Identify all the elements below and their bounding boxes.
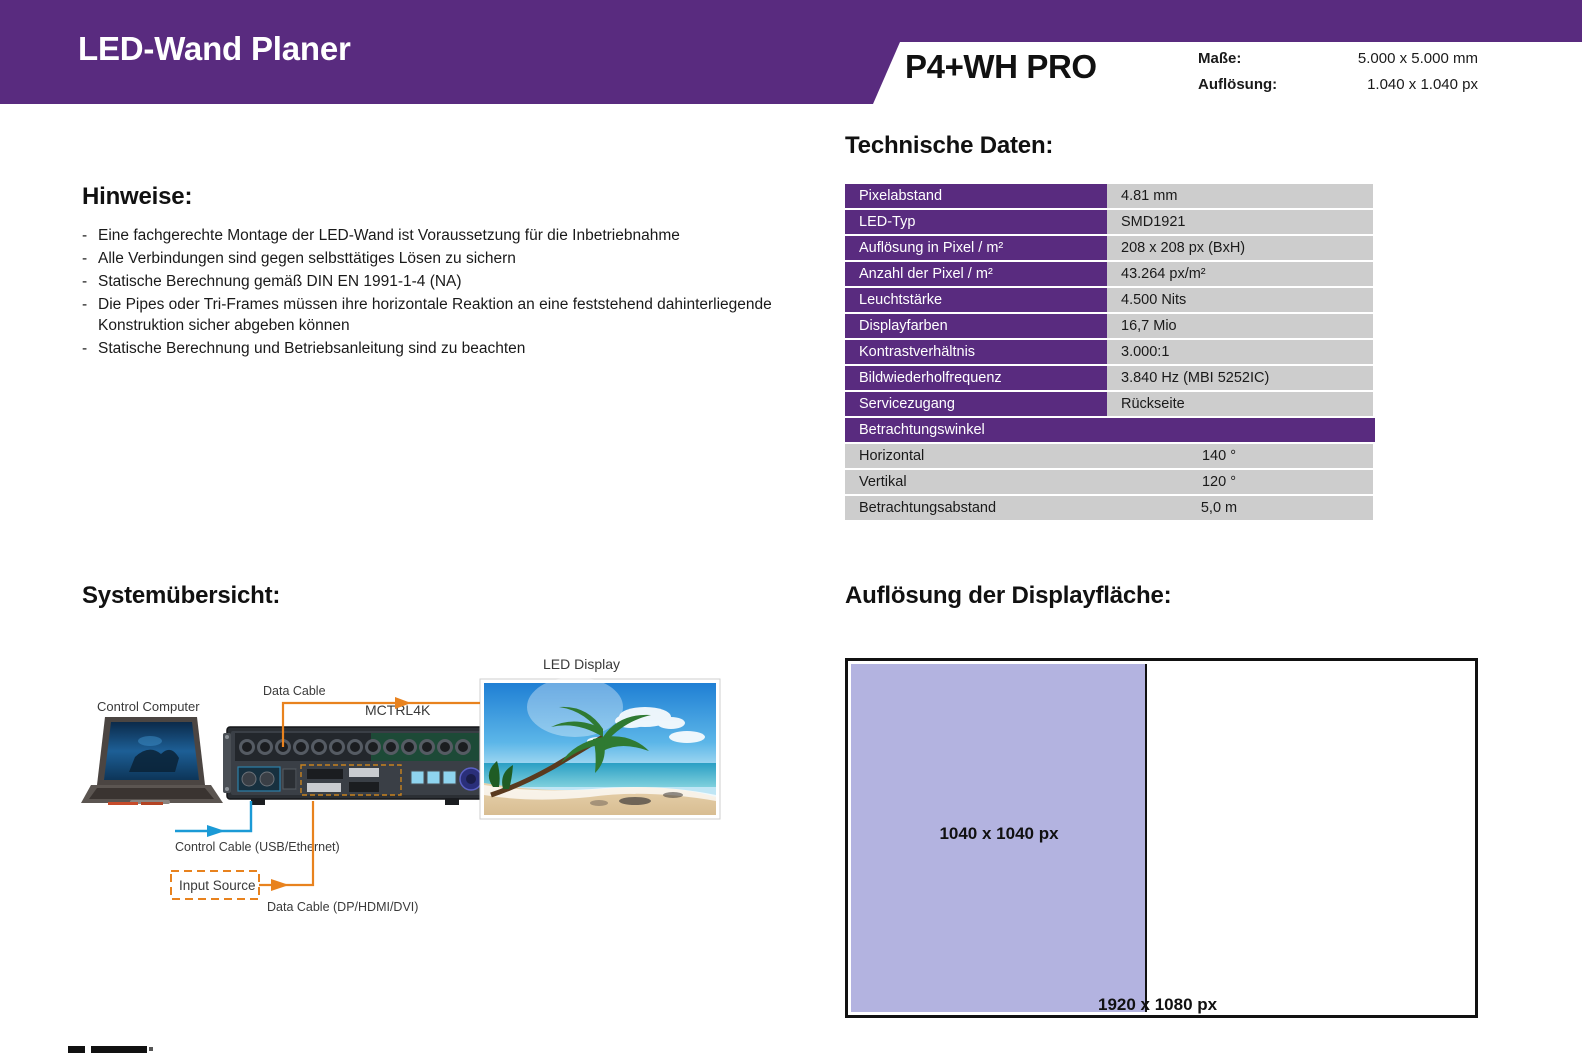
note-item: - Die Pipes oder Tri-Frames müssen ihre … — [82, 294, 782, 336]
table-row: Pixelabstand 4.81 mm — [845, 184, 1375, 208]
table-row: Vertikal 120 ° — [845, 470, 1375, 494]
table-cell-value: 43.264 px/m² — [1107, 262, 1373, 286]
led-display-label: LED Display — [543, 656, 620, 672]
table-cell-value: 4.81 mm — [1107, 184, 1373, 208]
note-bullet: - — [82, 271, 98, 292]
display-area-rect: 1040 x 1040 px — [851, 664, 1147, 1012]
data-cable-bottom-arrow — [271, 879, 289, 891]
note-bullet: - — [82, 248, 98, 269]
spec-value-aufloesung: 1.040 x 1.040 px — [1308, 72, 1478, 98]
system-overview-heading: Systemübersicht: — [82, 582, 782, 610]
product-name: P4+WH PRO — [905, 48, 1097, 86]
logo-mark-right — [91, 1046, 147, 1053]
control-cable-arrow — [207, 825, 225, 837]
laptop-icon — [81, 717, 223, 805]
table-cell-value: 3.000:1 — [1107, 340, 1373, 364]
tech-data-table: Pixelabstand 4.81 mm LED-Typ SMD1921 Auf… — [845, 184, 1375, 520]
tech-data-heading: Technische Daten: — [845, 132, 1375, 160]
table-cell-key: Pixelabstand — [845, 184, 1107, 208]
header-spec-list: Maße: 5.000 x 5.000 mm Auflösung: 1.040 … — [1198, 46, 1478, 98]
table-cell-value: 16,7 Mio — [1107, 314, 1373, 338]
note-bullet: - — [82, 338, 98, 359]
table-cell-value: 120 ° — [1107, 470, 1373, 494]
table-cell-value: Rückseite — [1107, 392, 1373, 416]
logo-registered-mark — [149, 1047, 153, 1051]
table-row: LED-Typ SMD1921 — [845, 210, 1375, 234]
input-source-label: Input Source — [179, 878, 256, 893]
note-text: Statische Berechnung gemäß DIN EN 1991-1… — [98, 271, 782, 292]
note-item: - Statische Berechnung und Betriebsanlei… — [82, 338, 782, 359]
note-text: Statische Berechnung und Betriebsanleitu… — [98, 338, 782, 359]
table-row: Betrachtungsabstand 5,0 m — [845, 496, 1375, 520]
table-cell-value: 208 x 208 px (BxH) — [1107, 236, 1373, 260]
table-group-header-row: Betrachtungswinkel — [845, 418, 1375, 442]
table-row: Auflösung in Pixel / m² 208 x 208 px (Bx… — [845, 236, 1375, 260]
table-cell-key: Vertikal — [845, 470, 1107, 494]
table-cell-key: Anzahl der Pixel / m² — [845, 262, 1107, 286]
note-bullet: - — [82, 225, 98, 246]
table-cell-key: Kontrastverhältnis — [845, 340, 1107, 364]
logo-mark-left — [68, 1046, 85, 1053]
table-cell-key: LED-Typ — [845, 210, 1107, 234]
notes-heading: Hinweise: — [82, 183, 782, 211]
table-cell-key: Horizontal — [845, 444, 1107, 468]
table-cell-key: Bildwiederholfrequenz — [845, 366, 1107, 390]
table-cell-key: Displayfarben — [845, 314, 1107, 338]
table-row: Leuchtstärke 4.500 Nits — [845, 288, 1375, 312]
note-bullet: - — [82, 294, 98, 336]
resolution-diagram: 1040 x 1040 px 1920 x 1080 px — [845, 658, 1478, 1018]
control-cable-line — [175, 801, 251, 831]
page-title: LED-Wand Planer — [78, 30, 351, 68]
system-overview-diagram: Control Computer MCTRL4K — [75, 645, 735, 965]
data-cable-top-label: Data Cable — [263, 684, 326, 698]
table-cell-value: 5,0 m — [1107, 496, 1373, 520]
table-cell-value: 140 ° — [1107, 444, 1373, 468]
page-header: LED-Wand Planer P4+WH PRO Maße: 5.000 x … — [0, 0, 1582, 104]
note-text: Alle Verbindungen sind gegen selbsttätig… — [98, 248, 782, 269]
header-purple-strip — [870, 0, 1582, 42]
spec-value-masse: 5.000 x 5.000 mm — [1308, 46, 1478, 72]
tech-data-section: Technische Daten: Pixelabstand 4.81 mm L… — [845, 132, 1375, 522]
control-cable-label: Control Cable (USB/Ethernet) — [175, 840, 340, 854]
display-area-label: 1040 x 1040 px — [851, 824, 1147, 844]
table-cell-key: Betrachtungsabstand — [845, 496, 1107, 520]
spec-row-masse: Maße: 5.000 x 5.000 mm — [1198, 46, 1478, 72]
note-item: - Alle Verbindungen sind gegen selbsttät… — [82, 248, 782, 269]
note-text: Die Pipes oder Tri-Frames müssen ihre ho… — [98, 294, 782, 336]
note-text: Eine fachgerechte Montage der LED-Wand i… — [98, 225, 782, 246]
table-group-header: Betrachtungswinkel — [845, 418, 1375, 442]
table-cell-value: 4.500 Nits — [1107, 288, 1373, 312]
note-item: - Eine fachgerechte Montage der LED-Wand… — [82, 225, 782, 246]
table-cell-key: Auflösung in Pixel / m² — [845, 236, 1107, 260]
table-row: Horizontal 140 ° — [845, 444, 1375, 468]
note-item: - Statische Berechnung gemäß DIN EN 1991… — [82, 271, 782, 292]
table-row: Kontrastverhältnis 3.000:1 — [845, 340, 1375, 364]
resolution-section: Auflösung der Displayfläche: — [845, 582, 1485, 624]
table-cell-value: SMD1921 — [1107, 210, 1373, 234]
table-row: Anzahl der Pixel / m² 43.264 px/m² — [845, 262, 1375, 286]
control-computer-label: Control Computer — [97, 699, 200, 714]
system-overview-section: Systemübersicht: — [82, 582, 782, 624]
table-row: Servicezugang Rückseite — [845, 392, 1375, 416]
notes-section: Hinweise: - Eine fachgerechte Montage de… — [82, 183, 782, 361]
resolution-heading: Auflösung der Displayfläche: — [845, 582, 1485, 610]
table-row: Displayfarben 16,7 Mio — [845, 314, 1375, 338]
spec-label-aufloesung: Auflösung: — [1198, 72, 1308, 98]
mctrl4k-device — [223, 727, 491, 805]
led-display-image — [480, 677, 720, 819]
table-row: Bildwiederholfrequenz 3.840 Hz (MBI 5252… — [845, 366, 1375, 390]
table-cell-key: Leuchtstärke — [845, 288, 1107, 312]
table-cell-value: 3.840 Hz (MBI 5252IC) — [1107, 366, 1373, 390]
spec-row-aufloesung: Auflösung: 1.040 x 1.040 px — [1198, 72, 1478, 98]
source-resolution-label: 1920 x 1080 px — [1098, 995, 1217, 1015]
table-cell-key: Servicezugang — [845, 392, 1107, 416]
data-cable-bottom-label: Data Cable (DP/HDMI/DVI) — [267, 900, 418, 914]
spec-label-masse: Maße: — [1198, 46, 1308, 72]
